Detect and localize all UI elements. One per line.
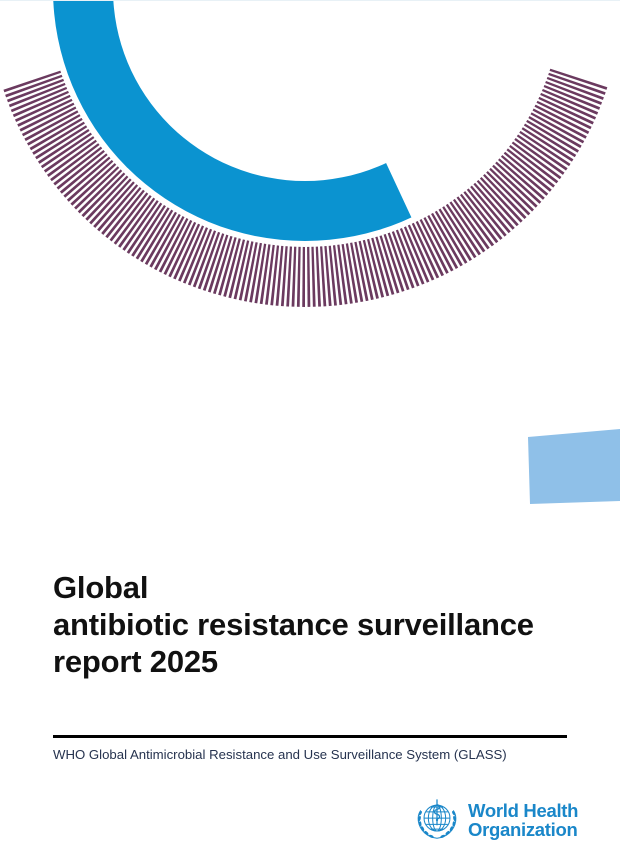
who-wordmark-line-1: World Health xyxy=(468,801,578,820)
report-cover-page: Global antibiotic resistance surveillanc… xyxy=(0,0,620,854)
title-line-1: Global xyxy=(53,569,593,606)
solid-cyan-arc xyxy=(0,1,455,341)
subtitle: WHO Global Antimicrobial Resistance and … xyxy=(53,745,613,765)
who-un-emblem-icon xyxy=(413,796,461,844)
who-logo: World Health Organization xyxy=(413,795,583,845)
title-line-3: report 2025 xyxy=(53,643,593,680)
arc-graphic-svg xyxy=(0,1,620,521)
light-blue-accent-block xyxy=(528,429,620,504)
page-title: Global antibiotic resistance surveillanc… xyxy=(53,569,593,680)
who-wordmark: World Health Organization xyxy=(468,801,578,839)
title-divider-rule xyxy=(53,735,567,738)
cover-arc-graphic xyxy=(0,1,620,521)
who-wordmark-line-2: Organization xyxy=(468,820,578,839)
title-line-2: antibiotic resistance surveillance xyxy=(53,606,593,643)
